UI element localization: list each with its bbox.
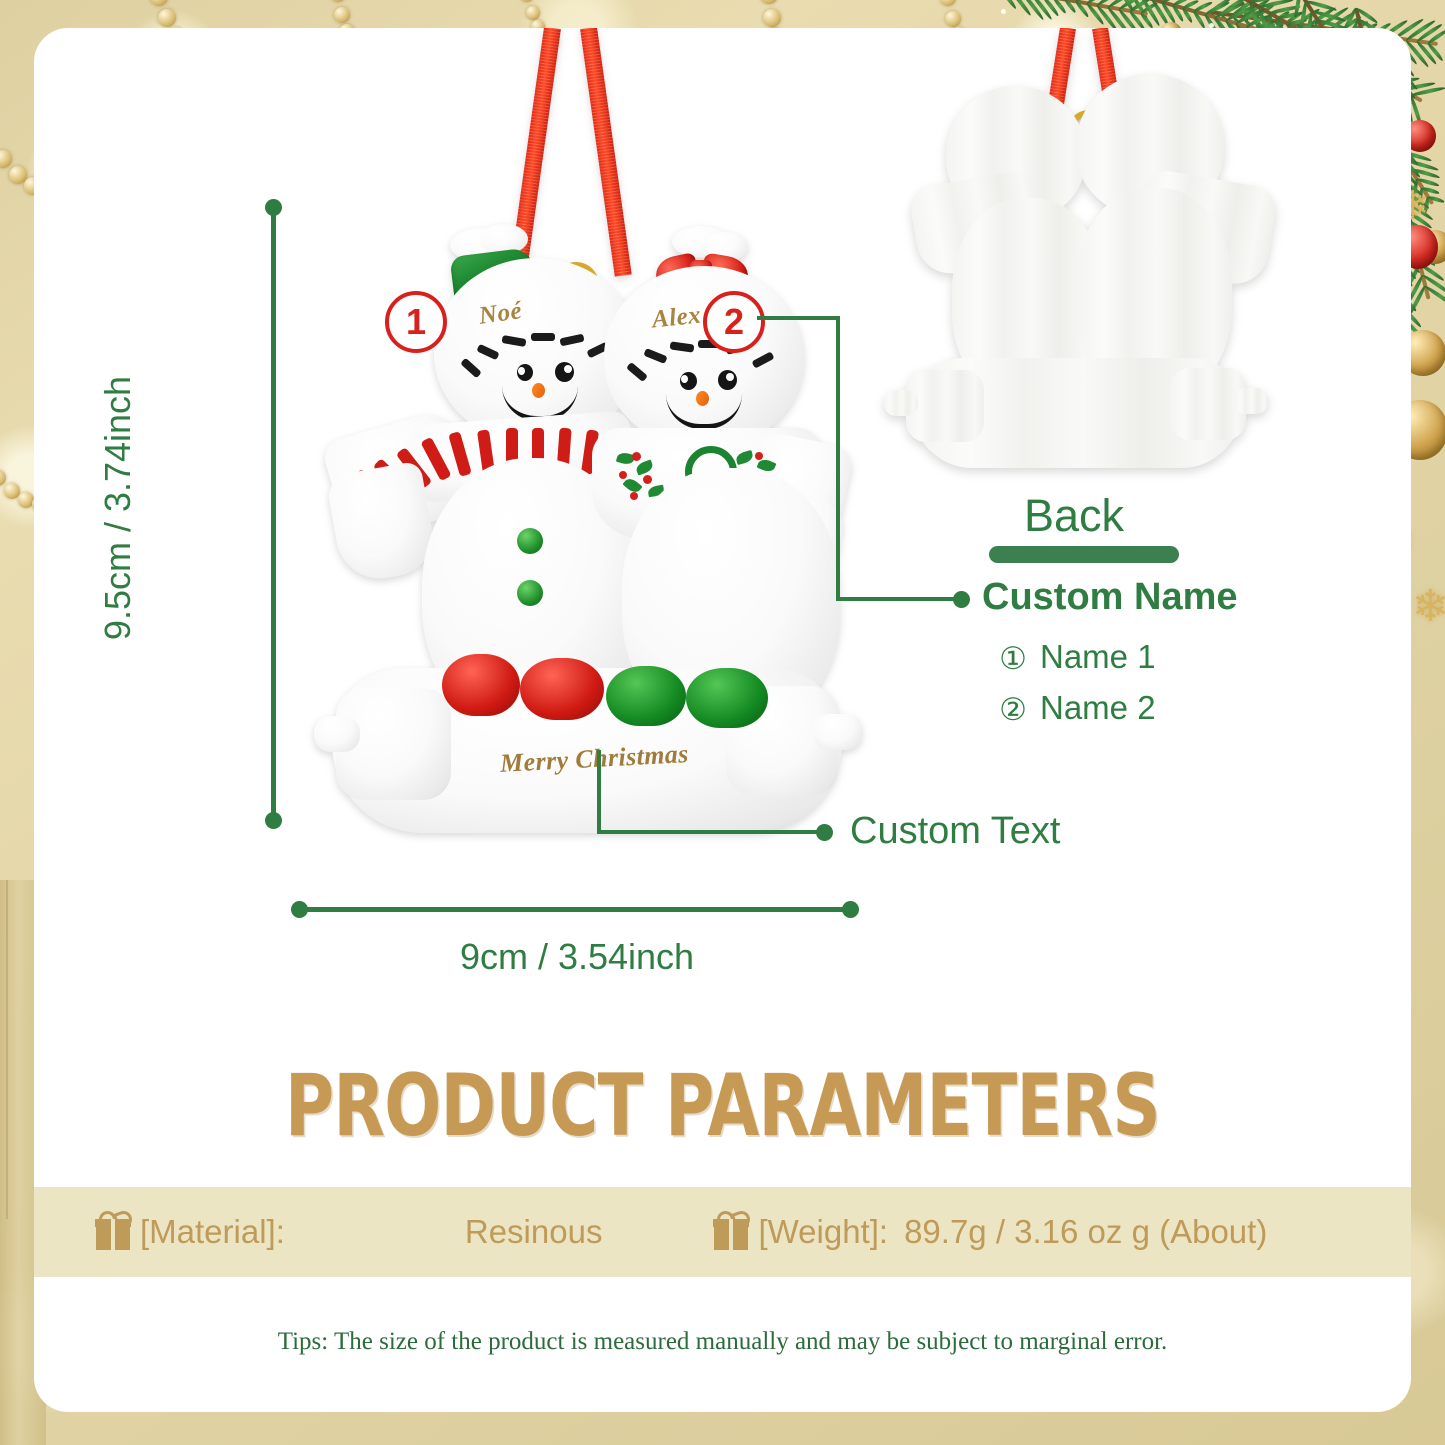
snowflake-nub-right-arm xyxy=(814,714,862,750)
parameters-band: [Material]: Resinous [Weight]: 89.7g / 3… xyxy=(34,1187,1411,1277)
front-name-2: Alex xyxy=(651,302,703,335)
custom-text-leader-v xyxy=(597,750,601,834)
snowman-arm-left xyxy=(325,461,439,586)
boot-red-2 xyxy=(520,658,604,720)
holly-berry xyxy=(632,452,641,461)
back-nub-left-arm xyxy=(884,390,918,416)
custom-name-leader-h1 xyxy=(757,316,840,320)
hair-dash xyxy=(531,333,555,341)
boot-green-2 xyxy=(686,668,768,728)
eye-glint xyxy=(726,373,734,381)
height-dim-dot-bottom xyxy=(265,812,282,829)
param-value-material: Resinous xyxy=(465,1213,603,1251)
boot-red-1 xyxy=(442,654,520,716)
param-row-weight: [Weight]: 89.7g / 3.16 oz g (About) xyxy=(714,1213,1267,1251)
custom-text-leader-h xyxy=(597,830,822,834)
holly-berry xyxy=(755,452,763,460)
badge-2: 2 xyxy=(703,291,765,353)
custom-name-leader-v xyxy=(836,316,840,601)
name-row-label-1: Name 1 xyxy=(1040,638,1156,675)
param-value-weight: 89.7g / 3.16 oz g (About) xyxy=(904,1213,1267,1251)
custom-name-leader-h2 xyxy=(836,597,959,601)
product-listing-image: ❄❄❄ ❄ Noé xyxy=(0,0,1445,1445)
parameters-title: PRODUCT PARAMETERS xyxy=(185,1056,1259,1156)
tips-note: Tips: The size of the product is measure… xyxy=(34,1328,1411,1356)
badge-1: 1 xyxy=(385,291,447,353)
front-name-1: Noé xyxy=(477,297,524,331)
hanging-ribbon-right xyxy=(580,28,632,277)
holly-berry xyxy=(619,471,627,479)
back-underline xyxy=(989,546,1179,563)
height-dim-line xyxy=(271,207,276,820)
ornament-back xyxy=(864,28,1284,498)
name-marker-1: ① xyxy=(996,644,1030,674)
gift-icon xyxy=(714,1214,748,1250)
gift-icon xyxy=(96,1214,130,1250)
holly-berry xyxy=(643,475,652,484)
width-dimension-label: 9cm / 3.54inch xyxy=(294,936,860,978)
back-nub-right-arm xyxy=(1234,388,1268,414)
name-row-label-2: Name 2 xyxy=(1040,689,1156,726)
width-dim-dot-right xyxy=(842,901,859,918)
back-label: Back xyxy=(924,490,1224,542)
content-card: Noé xyxy=(34,28,1411,1412)
holly-berry xyxy=(630,492,638,500)
boot-green-1 xyxy=(606,666,686,726)
param-row-material: [Material]: Resinous xyxy=(96,1213,602,1251)
width-dim-line xyxy=(299,907,850,912)
name-marker-2: ② xyxy=(996,695,1030,725)
custom-name-row-2: ②Name 2 xyxy=(996,689,1156,727)
custom-name-title: Custom Name xyxy=(982,576,1238,619)
button xyxy=(517,528,543,554)
eye-glint xyxy=(518,367,525,375)
custom-name-dot xyxy=(953,591,970,608)
ornament-front: Noé xyxy=(274,28,834,838)
custom-name-row-1: ①Name 1 xyxy=(996,638,1156,676)
custom-text-dot xyxy=(816,824,833,841)
eye-glint xyxy=(681,375,688,383)
param-key-material: [Material]: xyxy=(140,1213,285,1251)
custom-text-label: Custom Text xyxy=(850,810,1060,853)
eye-glint xyxy=(564,365,572,373)
snowflake-nub-left-arm xyxy=(314,716,360,752)
param-key-weight: [Weight]: xyxy=(758,1213,888,1251)
button xyxy=(517,580,543,606)
height-dimension-label: 9.5cm / 3.74inch xyxy=(97,328,139,688)
